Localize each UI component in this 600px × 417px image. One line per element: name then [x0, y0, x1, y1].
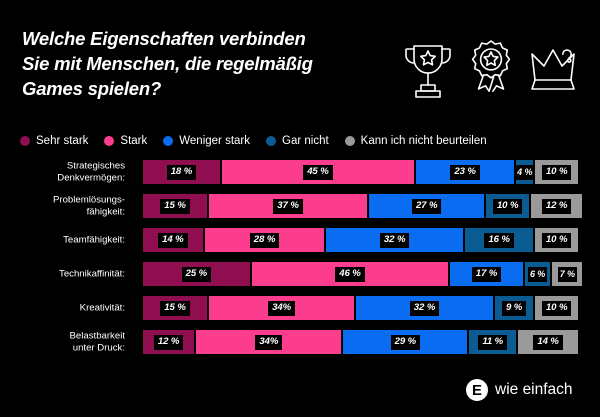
- bar-segment[interactable]: 37 %: [209, 194, 367, 218]
- bar-segment[interactable]: 11 %: [469, 330, 516, 354]
- chart-legend: Sehr starkStarkWeniger starkGar nichtKan…: [20, 131, 585, 151]
- bar-segment-value: 14 %: [533, 335, 562, 350]
- bar-segment-value: 15 %: [160, 301, 189, 316]
- legend-item[interactable]: Stark: [104, 135, 147, 148]
- chart-row: Problemlösungs-fähigkeit:15 %37 %27 %10 …: [0, 194, 600, 218]
- legend-swatch-icon: [163, 136, 173, 146]
- chart-row-label: StrategischesDenkvermögen:: [0, 161, 131, 184]
- legend-swatch-icon: [20, 136, 30, 146]
- decorative-icon-group: [400, 26, 580, 114]
- bar-segment-value: 12 %: [154, 335, 183, 350]
- chart-row-label: Kreativität:: [0, 302, 131, 314]
- bar-segment-value: 27 %: [412, 199, 441, 214]
- chart-row-bars: 15 %34%32 %9 %10 %: [143, 296, 578, 320]
- bar-segment[interactable]: 15 %: [143, 194, 207, 218]
- bar-segment-value: 16 %: [484, 233, 513, 248]
- chart-row: Belastbarkeitunter Druck:12 %34%29 %11 %…: [0, 330, 600, 354]
- trophy-icon: [400, 39, 456, 101]
- bar-segment-value: 14 %: [158, 233, 187, 248]
- bar-segment-value: 18 %: [167, 165, 196, 180]
- legend-swatch-icon: [345, 136, 355, 146]
- bar-segment-value: 17 %: [472, 267, 501, 282]
- bar-segment-value: 32 %: [410, 301, 439, 316]
- page-title: Welche Eigenschaften verbindenSie mit Me…: [22, 26, 402, 101]
- bar-segment-value: 6 %: [528, 267, 547, 282]
- bar-segment[interactable]: 17 %: [450, 262, 523, 286]
- logo-text: wie einfach: [495, 381, 573, 399]
- chart-row-label-line: Problemlösungs-: [0, 195, 125, 207]
- chart-row-label: Teamfähigkeit:: [0, 234, 131, 246]
- crown-icon: [526, 44, 582, 96]
- legend-item[interactable]: Kann ich nicht beurteilen: [345, 135, 487, 148]
- bar-segment-value: 29 %: [391, 335, 420, 350]
- chart-row-label-line: Teamfähigkeit:: [0, 234, 125, 246]
- bar-segment-value: 25 %: [182, 267, 211, 282]
- bar-segment[interactable]: 15 %: [143, 296, 207, 320]
- bar-segment[interactable]: 10 %: [486, 194, 529, 218]
- infographic-root: Welche Eigenschaften verbindenSie mit Me…: [0, 0, 600, 417]
- chart-row-bars: 14 %28 %32 %16 %10 %: [143, 228, 578, 252]
- chart-row-label-line: Denkvermögen:: [0, 172, 125, 184]
- page-title-line: Sie mit Menschen, die regelmäßig: [22, 51, 402, 76]
- bar-segment[interactable]: 10 %: [535, 228, 578, 252]
- bar-segment[interactable]: 7 %: [552, 262, 582, 286]
- bar-segment[interactable]: 16 %: [465, 228, 533, 252]
- bar-segment[interactable]: 12 %: [531, 194, 582, 218]
- chart-row-label-line: fähigkeit:: [0, 206, 125, 218]
- bar-segment-value: 15 %: [160, 199, 189, 214]
- legend-item[interactable]: Weniger stark: [163, 135, 250, 148]
- bar-segment[interactable]: 6 %: [525, 262, 551, 286]
- bar-segment[interactable]: 10 %: [535, 296, 578, 320]
- bar-segment[interactable]: 14 %: [143, 228, 203, 252]
- legend-label: Gar nicht: [282, 135, 329, 148]
- bar-segment-value: 11 %: [478, 335, 507, 350]
- bar-segment-value: 34%: [255, 335, 282, 350]
- page-title-line: Games spielen?: [22, 76, 402, 101]
- chart-row-label: Problemlösungs-fähigkeit:: [0, 195, 131, 218]
- chart-row-bars: 12 %34%29 %11 %14 %: [143, 330, 578, 354]
- bar-segment[interactable]: 25 %: [143, 262, 250, 286]
- chart-row: StrategischesDenkvermögen:18 %45 %23 %4 …: [0, 160, 600, 184]
- chart-row-label-line: Kreativität:: [0, 302, 125, 314]
- bar-segment-value: 7 %: [558, 267, 577, 282]
- bar-segment-value: 10 %: [542, 165, 571, 180]
- award-rosette-icon: [466, 39, 516, 101]
- legend-item[interactable]: Gar nicht: [266, 135, 329, 148]
- bar-segment-value: 34%: [268, 301, 295, 316]
- chart-row-bars: 25 %46 %17 %6 %7 %: [143, 262, 578, 286]
- bar-segment-value: 23 %: [450, 165, 479, 180]
- bar-segment[interactable]: 28 %: [205, 228, 325, 252]
- bar-segment[interactable]: 34%: [196, 330, 341, 354]
- chart-row-label-line: Technikaffinität:: [0, 268, 125, 280]
- bar-segment-value: 32 %: [380, 233, 409, 248]
- bar-segment-value: 10 %: [493, 199, 522, 214]
- legend-label: Kann ich nicht beurteilen: [361, 135, 487, 148]
- bar-segment-value: 28 %: [250, 233, 279, 248]
- bar-segment-value: 45 %: [303, 165, 332, 180]
- bar-segment-value: 10 %: [542, 233, 571, 248]
- chart-row: Kreativität:15 %34%32 %9 %10 %: [0, 296, 600, 320]
- chart-row-label: Technikaffinität:: [0, 268, 131, 280]
- chart-row-label-line: Belastbarkeit: [0, 331, 125, 343]
- bar-segment-value: 12 %: [542, 199, 571, 214]
- legend-label: Weniger stark: [179, 135, 250, 148]
- legend-item[interactable]: Sehr stark: [20, 135, 88, 148]
- bar-segment[interactable]: 10 %: [535, 160, 578, 184]
- bar-segment-value: 4 %: [515, 165, 534, 180]
- bar-segment[interactable]: 46 %: [252, 262, 448, 286]
- bar-segment-value: 9 %: [502, 301, 526, 316]
- bar-segment[interactable]: 32 %: [326, 228, 463, 252]
- chart-row-label-line: Strategisches: [0, 161, 125, 173]
- legend-swatch-icon: [266, 136, 276, 146]
- legend-swatch-icon: [104, 136, 114, 146]
- bar-segment[interactable]: 27 %: [369, 194, 484, 218]
- chart-row-bars: 18 %45 %23 %4 %10 %: [143, 160, 578, 184]
- bar-segment[interactable]: 32 %: [356, 296, 493, 320]
- bar-segment[interactable]: 45 %: [222, 160, 414, 184]
- page-title-line: Welche Eigenschaften verbinden: [22, 26, 402, 51]
- bar-segment[interactable]: 34%: [209, 296, 354, 320]
- logo-mark-icon: E: [466, 379, 488, 401]
- chart-row: Technikaffinität:25 %46 %17 %6 %7 %: [0, 262, 600, 286]
- bar-segment[interactable]: 14 %: [518, 330, 578, 354]
- bar-segment-value: 37 %: [273, 199, 302, 214]
- bar-segment[interactable]: 9 %: [495, 296, 533, 320]
- chart-row: Teamfähigkeit:14 %28 %32 %16 %10 %: [0, 228, 600, 252]
- bar-segment[interactable]: 4 %: [516, 160, 533, 184]
- bar-segment[interactable]: 18 %: [143, 160, 220, 184]
- chart-row-bars: 15 %37 %27 %10 %12 %: [143, 194, 578, 218]
- brand-logo: E wie einfach: [466, 379, 573, 401]
- chart-row-label: Belastbarkeitunter Druck:: [0, 331, 131, 354]
- legend-label: Stark: [120, 135, 147, 148]
- bar-segment-value: 10 %: [542, 301, 571, 316]
- legend-label: Sehr stark: [36, 135, 88, 148]
- chart-row-label-line: unter Druck:: [0, 342, 125, 354]
- stacked-bar-chart: StrategischesDenkvermögen:18 %45 %23 %4 …: [0, 160, 600, 375]
- bar-segment[interactable]: 29 %: [343, 330, 467, 354]
- bar-segment-value: 46 %: [335, 267, 364, 282]
- bar-segment[interactable]: 12 %: [143, 330, 194, 354]
- bar-segment[interactable]: 23 %: [416, 160, 514, 184]
